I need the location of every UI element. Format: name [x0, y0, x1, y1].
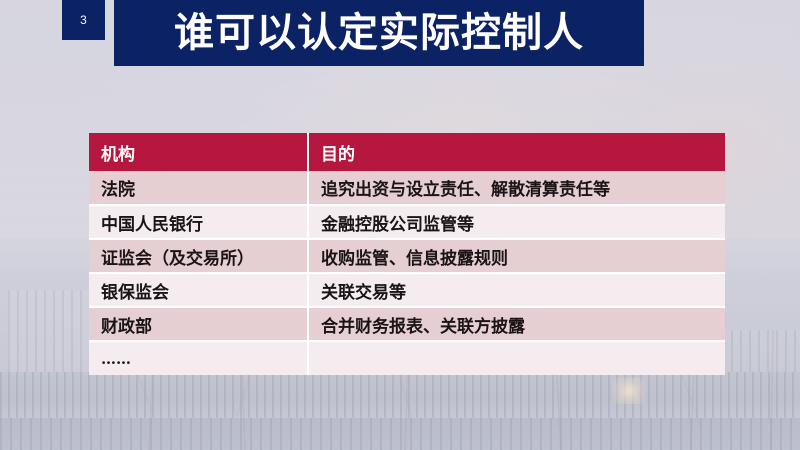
table-row: 证监会（及交易所） 收购监管、信息披露规则: [89, 239, 725, 273]
slide-number-text: 3: [80, 14, 87, 26]
cell-agency: 中国人民银行: [89, 205, 308, 239]
cell-purpose: 收购监管、信息披露规则: [308, 239, 725, 273]
cell-purpose: 金融控股公司监管等: [308, 205, 725, 239]
table-row: 财政部 合并财务报表、关联方披露: [89, 307, 725, 341]
column-header-agency: 机构: [89, 133, 308, 171]
cell-agency: ……: [89, 341, 308, 375]
cell-purpose: 追究出资与设立责任、解散清算责任等: [308, 171, 725, 205]
table-row: 银保监会 关联交易等: [89, 273, 725, 307]
table-header-row: 机构 目的: [89, 133, 725, 171]
slide-number-badge: 3: [62, 0, 105, 40]
cell-purpose: [308, 341, 725, 375]
page-title: 谁可以认定实际控制人: [174, 13, 584, 53]
cell-purpose: 关联交易等: [308, 273, 725, 307]
cell-agency: 银保监会: [89, 273, 308, 307]
table-body: 法院 追究出资与设立责任、解散清算责任等 中国人民银行 金融控股公司监管等 证监…: [89, 171, 725, 375]
cell-agency: 财政部: [89, 307, 308, 341]
agency-purpose-table: 机构 目的 法院 追究出资与设立责任、解散清算责任等 中国人民银行 金融控股公司…: [89, 133, 725, 375]
table-row: 中国人民银行 金融控股公司监管等: [89, 205, 725, 239]
cell-agency: 法院: [89, 171, 308, 205]
cell-agency: 证监会（及交易所）: [89, 239, 308, 273]
table-row: 法院 追究出资与设立责任、解散清算责任等: [89, 171, 725, 205]
presentation-slide: 3 谁可以认定实际控制人 机构 目的 法院 追究出资与设立责任、解散清算责任等 …: [0, 0, 800, 450]
slide-title-banner: 谁可以认定实际控制人: [114, 0, 644, 66]
table-row: ……: [89, 341, 725, 375]
cell-purpose: 合并财务报表、关联方披露: [308, 307, 725, 341]
column-header-purpose: 目的: [308, 133, 725, 171]
table-header: 机构 目的: [89, 133, 725, 171]
